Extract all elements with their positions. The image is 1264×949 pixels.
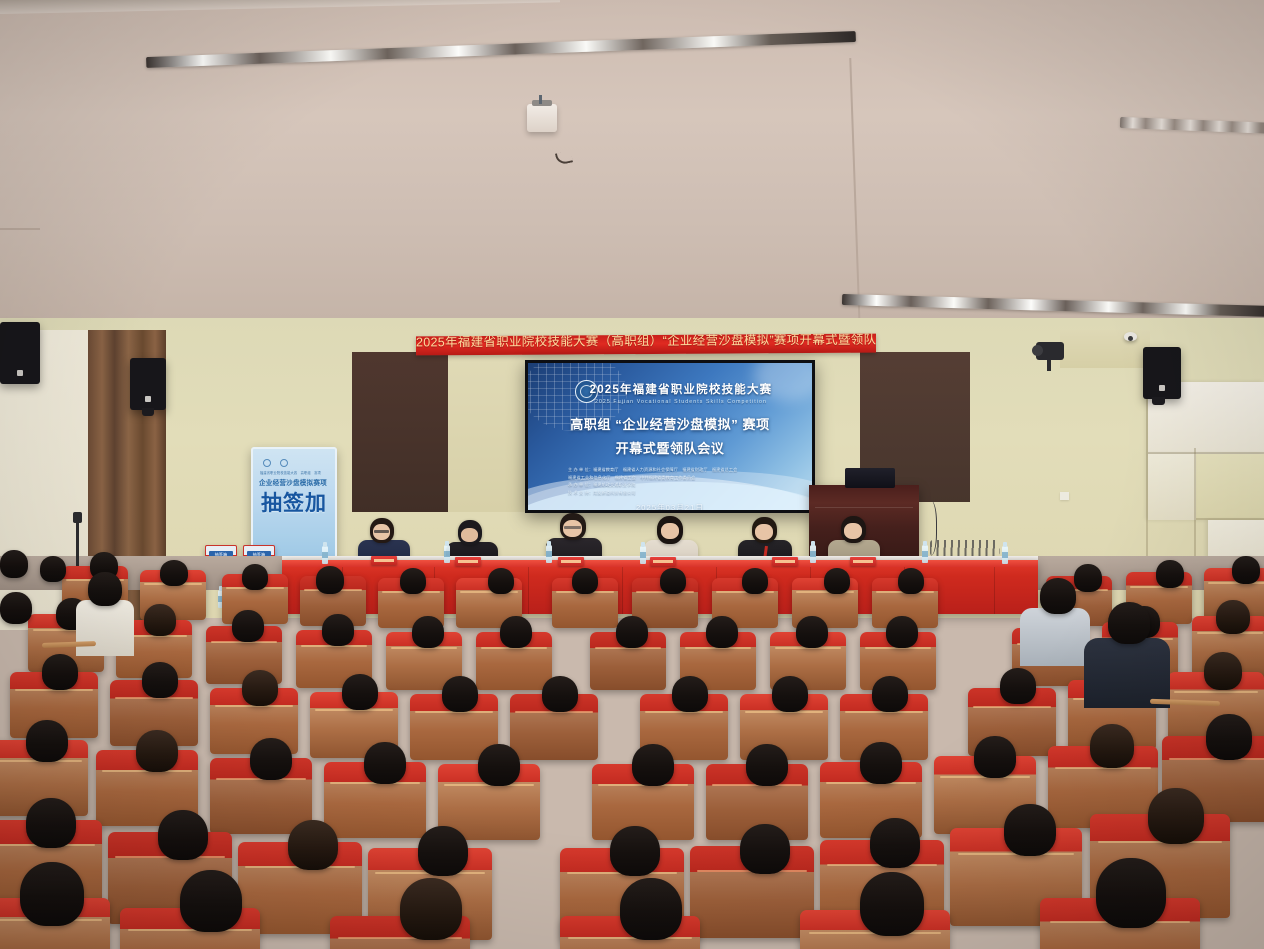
audience-head: [1148, 788, 1204, 844]
audience-head: [42, 654, 78, 690]
name-card: [371, 556, 397, 565]
event-banner: 2025年福建省职业院校技能大赛（高职组）“企业经营沙盘模拟”赛项开幕式暨领队会: [416, 334, 876, 356]
name-card: [558, 557, 584, 566]
water-bottle: [922, 545, 928, 563]
audience-head: [478, 744, 520, 786]
audience-head: [136, 730, 178, 772]
name-card: [772, 557, 798, 566]
audience-head: [400, 568, 426, 594]
water-bottle: [322, 546, 328, 564]
water-bottle: [810, 545, 816, 563]
audience-head: [160, 560, 188, 586]
audience-head: [418, 826, 468, 876]
audience-head: [796, 616, 828, 648]
audience-head: [0, 550, 28, 578]
acoustic-panel-3: [1148, 454, 1196, 520]
audience-head: [442, 676, 478, 712]
audience-head: [316, 566, 344, 594]
speaker-wall-left-mount: [142, 408, 154, 416]
water-bottle: [444, 545, 450, 563]
audience-head: [500, 616, 532, 648]
audience-head: [632, 744, 674, 786]
audience-head: [1204, 652, 1242, 690]
screen-event-line-1: 高职组 “企业经营沙盘模拟” 赛项: [528, 414, 812, 433]
screen-competition-title-cn: 2025年福建省职业院校技能大赛: [528, 381, 812, 397]
audience-head: [1000, 668, 1036, 704]
projection-screen: 2025年福建省职业院校技能大赛 2025 Fujian Vocational …: [528, 363, 812, 510]
panelist-6-face: [844, 523, 862, 539]
aisle-person-right-head: [1040, 578, 1076, 614]
name-card: [650, 557, 676, 566]
audience-head: [20, 862, 84, 926]
audience-head: [872, 676, 908, 712]
standee-logo-right-icon: [280, 459, 288, 467]
audience-head: [250, 738, 292, 780]
audience-head: [1096, 858, 1166, 928]
audience-head: [974, 736, 1016, 778]
audience-head: [40, 556, 66, 582]
skirt-fold: [622, 567, 623, 614]
podium-monitor: [845, 468, 895, 488]
audience-head: [364, 742, 406, 784]
audience-head: [26, 720, 68, 762]
aisle-person-right-2-head: [1108, 602, 1150, 644]
audience-head: [1074, 564, 1102, 592]
ceiling-projector: [527, 104, 557, 132]
name-card: [850, 557, 876, 566]
aisle-person-left-head: [88, 572, 122, 606]
floor-cables: [930, 540, 1000, 556]
conference-hall-photo: 2025年福建省职业院校技能大赛（高职组）“企业经营沙盘模拟”赛项开幕式暨领队会…: [0, 0, 1264, 949]
ceiling-light-strip-1: [146, 31, 856, 68]
aisle-person-right-2-body: [1084, 638, 1170, 708]
audience-head: [158, 810, 208, 860]
audience-head: [886, 616, 918, 648]
panelist-3-glasses-icon: [564, 526, 581, 529]
panelist-5-face: [755, 524, 773, 540]
screen-organizers: 主 办 单 位：福建省教育厅 福建省人力资源和社会保障厅 福建省财政厅 福建省总…: [528, 466, 812, 496]
acoustic-panel-edge-4: [1196, 518, 1264, 520]
audience-head: [1216, 600, 1250, 634]
audience-head: [1090, 724, 1134, 768]
audience-head: [660, 568, 686, 594]
audience-head: [610, 826, 660, 876]
audience-head: [232, 610, 264, 642]
audience-head: [742, 568, 768, 594]
audience-head: [860, 742, 902, 784]
skirt-fold: [528, 567, 529, 614]
screen-competition-title-en: 2025 Fujian Vocational Students Skills C…: [528, 399, 812, 405]
organizer-line-3: 承 办 单 位：福建船政交通职业学院: [568, 481, 812, 489]
panelist-4-face: [661, 523, 679, 539]
organizer-line-2: 福建省工业和信息化厅 福建省工会 中共福建省委教育工作委员会: [568, 474, 812, 482]
ceiling-seam-right: [849, 58, 860, 330]
wall-between-left: [448, 352, 526, 512]
panelist-2-face: [461, 528, 478, 542]
screen-event-date: 2025年03月21日: [528, 502, 812, 510]
standee-subtitle: 福建省职业院校技能大赛 高职组 赛项: [260, 470, 330, 475]
audience-head: [412, 616, 444, 648]
organizer-line-4: 技 术 支 持：用友新道科技有限公司: [568, 489, 812, 497]
audience-head: [180, 870, 242, 932]
ceiling-light-strip-2: [842, 294, 1264, 317]
standee-logo-left-icon: [263, 459, 271, 467]
audience-head: [860, 872, 924, 936]
audience-head: [898, 568, 924, 594]
cctv-camera-dome: [1124, 332, 1137, 341]
ceiling-edge-strip: [0, 0, 560, 14]
ceiling-light-strip-4: [1120, 117, 1264, 134]
audience-head: [242, 670, 278, 706]
speaker-wall-left: [130, 358, 166, 410]
standee-big-text: 抽签加: [253, 493, 335, 516]
audience-head: [1004, 804, 1056, 856]
audience-head: [824, 568, 850, 594]
skirt-fold: [994, 567, 995, 614]
audience-head: [772, 676, 808, 712]
acoustic-panel-edge-1: [1146, 382, 1148, 582]
name-card: [455, 557, 481, 566]
speaker-wall-right: [1143, 347, 1181, 399]
audience-head: [142, 662, 178, 698]
projector-cable: [555, 150, 573, 165]
audience-head: [242, 564, 268, 590]
standee-logos: [263, 459, 288, 467]
water-bottle: [1002, 546, 1008, 564]
screen-event-line-2: 开幕式暨领队会议: [528, 438, 812, 457]
organizer-line-1: 主 办 单 位：福建省教育厅 福建省人力资源和社会保障厅 福建省财政厅 福建省总…: [568, 466, 812, 474]
water-bottle: [640, 546, 646, 564]
audience-head: [488, 568, 514, 594]
acoustic-panel-2: [1196, 454, 1264, 520]
audience-head: [400, 878, 462, 940]
audience-head: [542, 676, 578, 712]
audience-head: [1206, 714, 1252, 760]
aisle-person-left-body: [76, 600, 134, 656]
screen-content: 2025年福建省职业院校技能大赛 2025 Fujian Vocational …: [528, 363, 812, 510]
aisle-person-right-body: [1020, 608, 1090, 666]
audience-head: [706, 616, 738, 648]
projection-screen-frame: 2025年福建省职业院校技能大赛 2025 Fujian Vocational …: [525, 360, 815, 513]
audience-head: [870, 818, 920, 868]
speaker-ceiling-left: [0, 322, 40, 384]
water-bottle: [546, 545, 552, 563]
audience-head: [288, 820, 338, 870]
audience-head: [740, 824, 790, 874]
standee-title: 企业经营沙盘模拟赛项: [259, 477, 331, 487]
audience-head: [322, 614, 354, 646]
event-banner-text: 2025年福建省职业院校技能大赛（高职组）“企业经营沙盘模拟”赛项开幕式暨领队会: [416, 334, 876, 353]
audience-head: [746, 744, 788, 786]
audience-head: [616, 616, 648, 648]
audience-head: [26, 798, 76, 848]
audience-head: [620, 878, 682, 940]
audience-head: [572, 568, 598, 594]
ceiling: [0, 0, 1264, 330]
wall-door-left: [352, 352, 448, 512]
wall-camera: [1036, 342, 1064, 360]
audience-head: [342, 674, 378, 710]
wall-socket: [1060, 492, 1069, 500]
audience-head: [0, 592, 32, 624]
ceiling-seam-left: [0, 228, 40, 230]
audience-head: [1232, 556, 1260, 584]
audience-head: [672, 676, 708, 712]
audience-head: [144, 604, 176, 636]
speaker-wall-right-mount: [1152, 397, 1165, 405]
panelist-1-glasses-icon: [374, 530, 389, 533]
acoustic-panel-edge-3: [1148, 452, 1264, 454]
audience-head: [1156, 560, 1184, 588]
